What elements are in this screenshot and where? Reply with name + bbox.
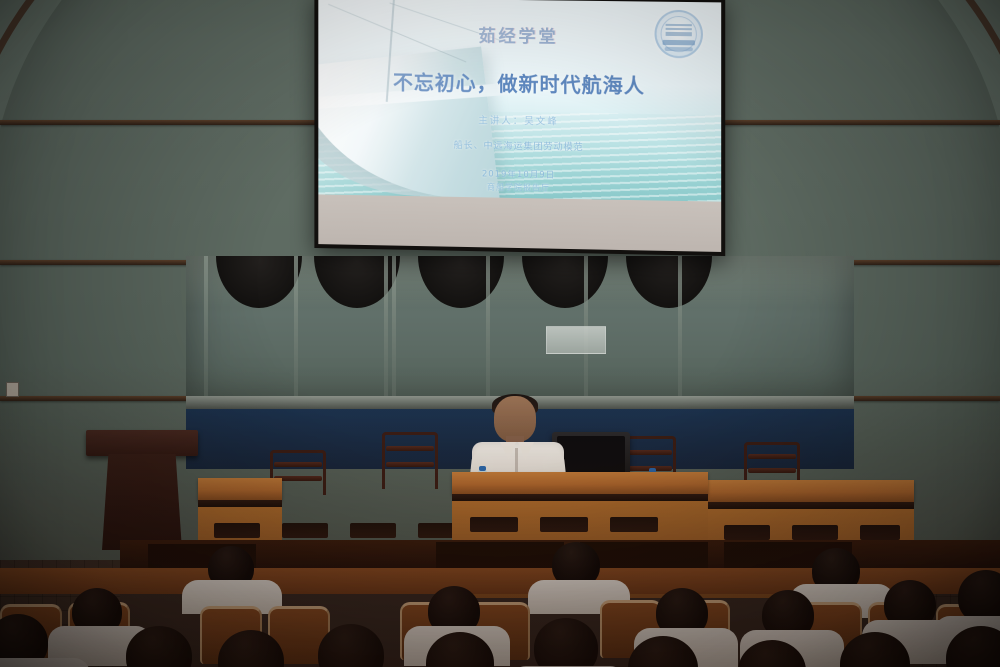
chair-slat — [386, 462, 434, 467]
table-top — [452, 472, 708, 494]
screen-blank-area — [318, 194, 721, 252]
podium-top — [86, 430, 198, 456]
table-top — [198, 478, 282, 500]
audience-shoulders — [0, 658, 90, 667]
rear-wood-inset — [436, 542, 564, 568]
speaker-podium[interactable] — [86, 430, 198, 548]
podium-body — [102, 454, 182, 550]
projection-screen[interactable]: 茹经学堂 不忘初心，做新时代航海人 主讲人：吴文峰 船长、中远海运集团劳动模范 … — [314, 0, 725, 256]
chair-slat — [274, 462, 322, 467]
table-panel — [282, 523, 328, 538]
table-panel — [860, 525, 900, 540]
chair-slat — [748, 454, 796, 459]
wall-power-outlet — [6, 382, 19, 397]
slide-title: 不忘初心，做新时代航海人 — [318, 65, 721, 100]
chair-back — [382, 432, 438, 489]
projected-slide: 茹经学堂 不忘初心，做新时代航海人 主讲人：吴文峰 船长、中远海运集团劳动模范 … — [318, 0, 721, 202]
audience-head — [534, 618, 598, 667]
table-panel — [214, 523, 260, 538]
monitor-screen — [557, 436, 625, 474]
table-panel — [540, 517, 588, 532]
table-panel — [470, 517, 518, 532]
window-mullion — [392, 256, 396, 402]
window-mullion — [384, 256, 388, 402]
stage-chair[interactable] — [378, 432, 442, 498]
window-mullion — [294, 256, 298, 402]
window-mullion — [204, 256, 208, 402]
chair-slat — [386, 446, 434, 451]
lecture-hall-photo: 茹经学堂 不忘初心，做新时代航海人 主讲人：吴文峰 船长、中远海运集团劳动模范 … — [0, 0, 1000, 667]
bottle-cap — [479, 466, 486, 471]
chair-slat — [624, 450, 672, 455]
audience-seating — [0, 540, 1000, 667]
slide-kicker: 茹经学堂 — [318, 19, 721, 49]
chair-slat — [748, 468, 796, 473]
window-mullion — [486, 256, 490, 402]
table-panel — [792, 525, 838, 540]
table-edge — [708, 502, 914, 509]
table-edge — [452, 494, 708, 501]
chair-slat — [624, 466, 672, 471]
table-top — [708, 480, 914, 502]
table-panel — [724, 525, 770, 540]
table-panel — [610, 517, 658, 532]
wall-notice-sign — [546, 326, 606, 354]
table-edge — [198, 500, 282, 507]
window-mullion — [678, 256, 682, 402]
table-panel — [350, 523, 396, 538]
stage-back-wall — [186, 256, 854, 402]
screen-surface: 茹经学堂 不忘初心，做新时代航海人 主讲人：吴文峰 船长、中远海运集团劳动模范 … — [318, 0, 721, 252]
